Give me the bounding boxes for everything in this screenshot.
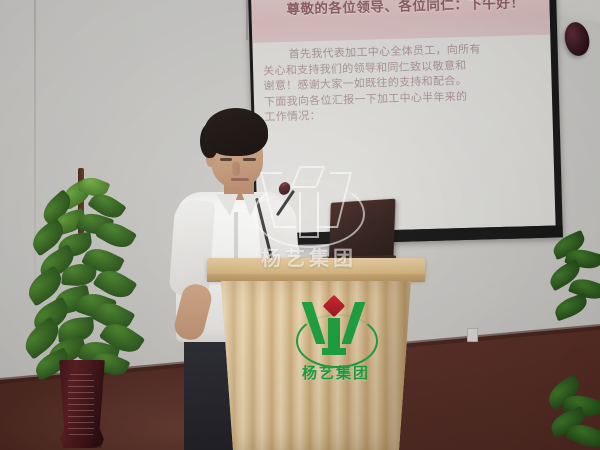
presenter-collar-left [216, 194, 238, 216]
wall-outlet-icon [467, 328, 478, 342]
presenter-eye-left [220, 158, 232, 161]
podium-logo: 杨艺集团 [290, 296, 382, 392]
presenter-nose [232, 162, 240, 176]
slide-body: 首先我代表加工中心全体员工，向所有 关心和支持我们的领导和同仁致以敬意和 谢意！… [263, 41, 545, 126]
podium-top-edge [207, 274, 425, 282]
potted-plant-left [18, 168, 146, 450]
presenter-sleeve-left [169, 199, 216, 298]
presenter-hair [204, 108, 268, 156]
potted-plant-right [556, 232, 600, 450]
presenter-mouth [231, 178, 249, 181]
podium-logo-text: 杨艺集团 [290, 362, 382, 383]
leaf [552, 293, 590, 322]
plant-pot-highlight [68, 374, 94, 436]
logo-stem-foot-icon [322, 348, 346, 355]
laptop-computer [329, 199, 395, 262]
plant-foliage-left [18, 168, 146, 376]
photo-scene: 尊敬的各位领导、各位同仁：下午好！ 首先我代表加工中心全体员工，向所有 关心和支… [0, 0, 600, 450]
presenter-eye-right [243, 158, 256, 161]
